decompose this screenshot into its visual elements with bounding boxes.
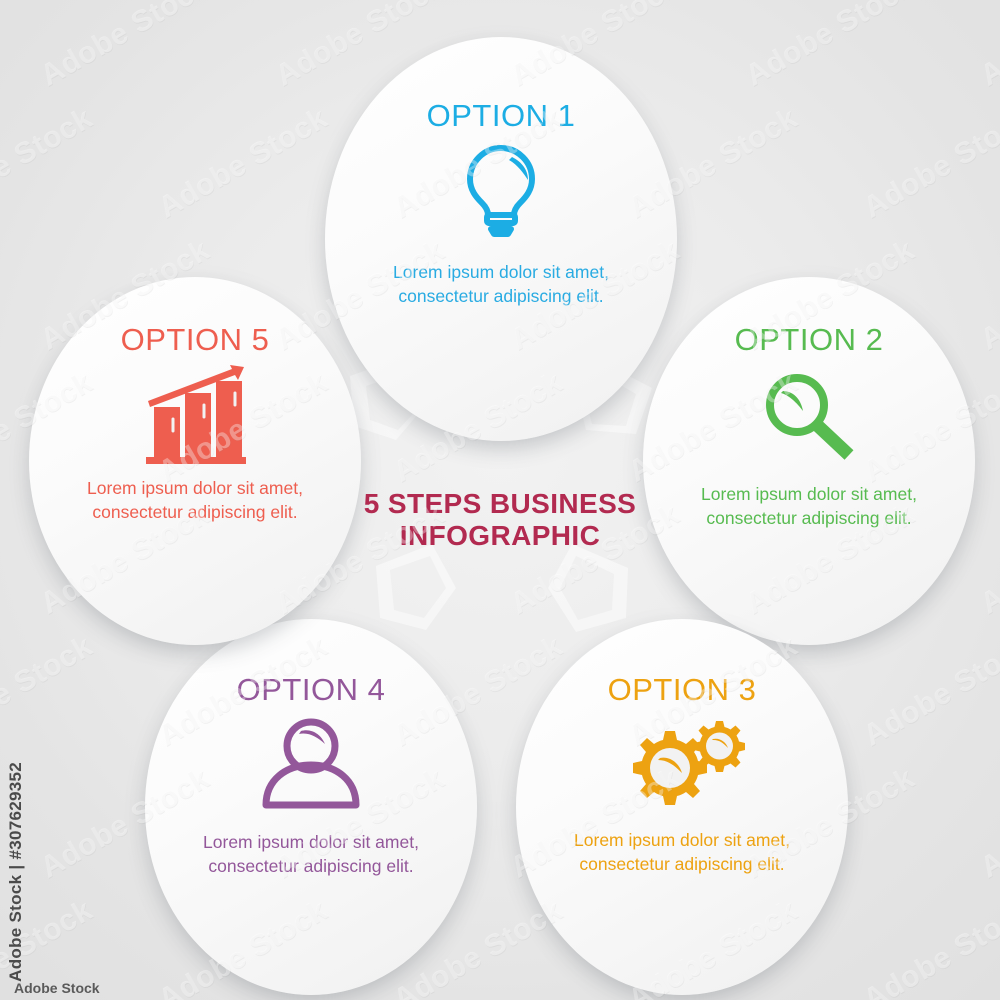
stock-credit-vertical: Adobe Stock | #307629352	[6, 762, 26, 982]
infographic-title-line2: INFOGRAPHIC	[340, 520, 660, 552]
option-4-desc-line2: consectetur adipiscing elit.	[208, 856, 413, 876]
option-3-desc-line1: Lorem ipsum dolor sit amet,	[574, 830, 790, 850]
infographic-title-line1: 5 STEPS BUSINESS	[340, 488, 660, 520]
watermark-text: Adobe Stock	[858, 102, 1000, 226]
watermark-text: Adobe Stock	[858, 630, 1000, 754]
watermark-text: Adobe Stock	[0, 102, 98, 226]
option-2-circle[interactable]: OPTION 2 Lorem ipsum dolor sit amet, con…	[654, 288, 964, 634]
option-4-circle[interactable]: OPTION 4 Lorem ipsum dolor sit amet, con…	[156, 630, 466, 984]
option-1-title: OPTION 1	[427, 100, 576, 131]
option-2-description: Lorem ipsum dolor sit amet, consectetur …	[701, 483, 917, 530]
infographic-title: 5 STEPS BUSINESS INFOGRAPHIC	[340, 488, 660, 553]
magnifier-icon	[757, 369, 861, 461]
option-3-description: Lorem ipsum dolor sit amet, consectetur …	[574, 829, 790, 876]
gears-icon	[617, 715, 747, 813]
infographic-canvas: OPTION 1 Lorem ipsum dolor sit amet, con…	[0, 0, 1000, 1000]
option-5-desc-line2: consectetur adipiscing elit.	[92, 502, 297, 522]
option-1-desc-line2: consectetur adipiscing elit.	[398, 286, 603, 306]
option-4-description: Lorem ipsum dolor sit amet, consectetur …	[203, 831, 419, 878]
watermark-text: Adobe Stock	[975, 498, 1000, 622]
option-1-description: Lorem ipsum dolor sit amet, consectetur …	[393, 261, 609, 308]
watermark-text: Adobe Stock	[35, 0, 216, 93]
lightbulb-icon	[462, 143, 540, 239]
option-5-desc-line1: Lorem ipsum dolor sit amet,	[87, 478, 303, 498]
option-4-title: OPTION 4	[237, 674, 386, 705]
option-5-title: OPTION 5	[121, 324, 270, 355]
watermark-text: Adobe Stock	[975, 762, 1000, 886]
watermark-text: Adobe Stock	[858, 894, 1000, 1000]
stock-credit-bottom: Adobe Stock	[14, 980, 100, 996]
option-2-desc-line1: Lorem ipsum dolor sit amet,	[701, 484, 917, 504]
person-icon	[253, 717, 369, 813]
option-5-circle[interactable]: OPTION 5 Lorem ipsum dolor sit amet,	[40, 288, 350, 634]
watermark-text: Adobe Stock	[975, 0, 1000, 93]
watermark-text: Adobe Stock	[0, 630, 98, 754]
option-3-circle[interactable]: OPTION 3 Lorem ipsum dolor sit amet, con…	[527, 630, 837, 984]
watermark-text: Adobe Stock	[740, 0, 921, 93]
watermark-text: Adobe Stock	[153, 102, 334, 226]
option-5-description: Lorem ipsum dolor sit amet, consectetur …	[87, 477, 303, 524]
option-2-title: OPTION 2	[735, 324, 884, 355]
option-1-desc-line1: Lorem ipsum dolor sit amet,	[393, 262, 609, 282]
option-1-circle[interactable]: OPTION 1 Lorem ipsum dolor sit amet, con…	[336, 48, 666, 430]
option-2-desc-line2: consectetur adipiscing elit.	[706, 508, 911, 528]
bar-growth-icon	[140, 363, 250, 467]
watermark-text: Adobe Stock	[975, 234, 1000, 358]
option-3-desc-line2: consectetur adipiscing elit.	[579, 854, 784, 874]
option-3-title: OPTION 3	[608, 674, 757, 705]
option-4-desc-line1: Lorem ipsum dolor sit amet,	[203, 832, 419, 852]
